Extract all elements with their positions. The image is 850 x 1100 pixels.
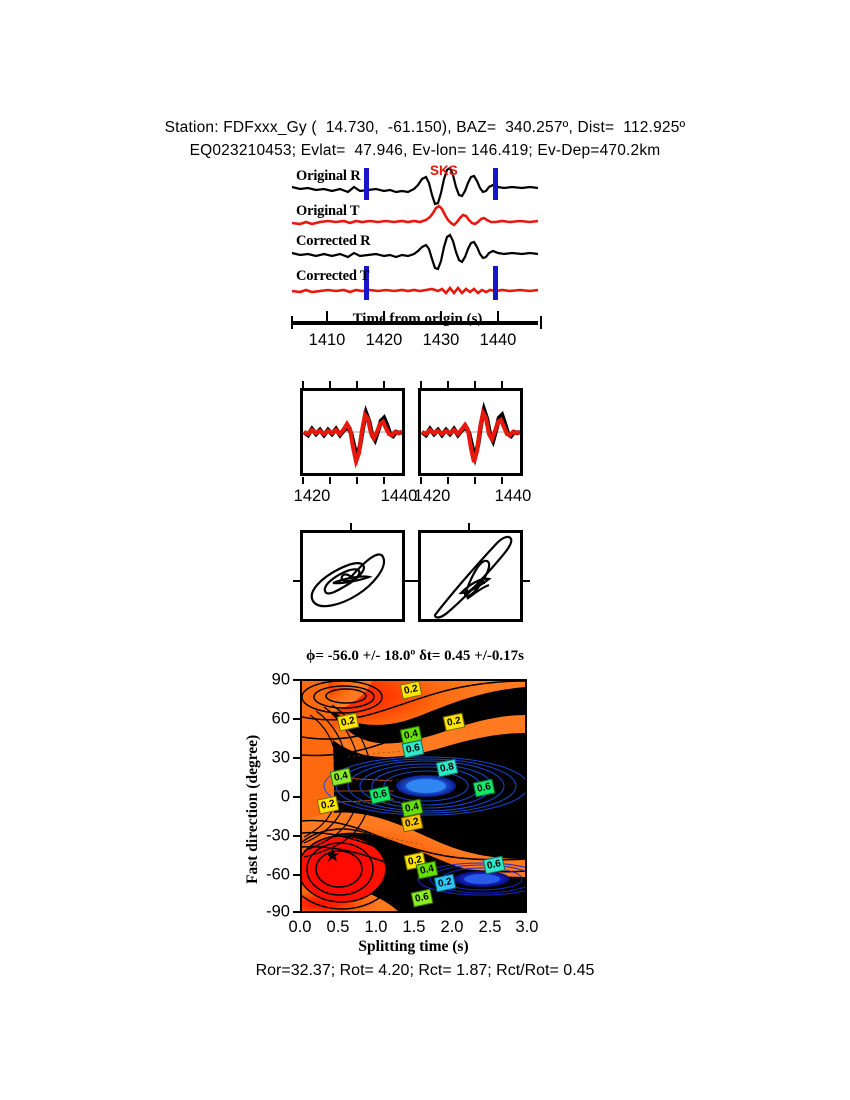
y-tick-label: -90: [244, 903, 290, 922]
y-axis-title: Fast direction (degree): [244, 735, 262, 884]
fast-slow-waveform-box-corrected: [418, 388, 523, 476]
mini-tick: [447, 477, 449, 484]
x-tick-label: 0.5: [327, 918, 350, 937]
time-tick-label: 1410: [309, 331, 346, 350]
best-solution-star: ★: [324, 847, 341, 866]
mini-tick: [383, 477, 385, 484]
x-tick-label: 2.0: [441, 918, 464, 937]
mini-tick: [302, 381, 304, 388]
mini-tick: [356, 381, 358, 388]
station-info-line: Station: FDFxxx_Gy ( 14.730, -61.150), B…: [0, 116, 850, 139]
contour-plot-title: ϕ= -56.0 +/- 18.0º δt= 0.45 +/-0.17s: [230, 648, 600, 665]
contour-plot[interactable]: 0.2 0.2 0.2 0.4 0.6 0.4 0.8 0.6 0.6 0.2 …: [300, 679, 527, 913]
mini-tick-label: 1440: [381, 487, 418, 506]
footer-statistics: Ror=32.37; Rot= 4.20; Rct= 1.87; Rct/Rot…: [0, 962, 850, 980]
trace-corrected-t: [292, 288, 538, 293]
waveform-panel: Original R Original T Corrected R Correc…: [290, 165, 540, 310]
particle-motion-box-corrected: [418, 530, 523, 622]
trace-label-original-t: Original T: [296, 203, 359, 220]
mini-tick: [474, 477, 476, 484]
mini-tick: [468, 523, 470, 530]
window-end-bar-corrected: [493, 266, 498, 300]
mini-tick-label: 1440: [495, 487, 532, 506]
mini-tick: [329, 477, 331, 484]
mini-tick: [420, 381, 422, 388]
figure-header: Station: FDFxxx_Gy ( 14.730, -61.150), B…: [0, 116, 850, 162]
mini-tick: [501, 477, 503, 484]
event-info-line: EQ023210453; Evlat= 47.946, Ev-lon= 146.…: [0, 139, 850, 162]
mini-tick: [356, 477, 358, 484]
particle-motion-box-uncorrected: [300, 530, 405, 622]
y-tick: [293, 796, 300, 798]
y-tick-label: 60: [250, 710, 290, 729]
mini-tick: [523, 580, 530, 582]
trace-label-corrected-r: Corrected R: [296, 233, 370, 250]
mini-tick: [329, 381, 331, 388]
y-tick: [293, 835, 300, 837]
y-tick: [293, 718, 300, 720]
y-tick: [293, 911, 300, 913]
mini-tick: [447, 381, 449, 388]
window-end-bar-original: [493, 168, 498, 200]
x-tick-label: 2.5: [479, 918, 502, 937]
mini-tick-label: 1420: [414, 487, 451, 506]
time-tick-label: 1420: [366, 331, 403, 350]
mini-tick: [293, 580, 300, 582]
time-axis-title: Time from origin (s): [285, 311, 550, 328]
fast-slow-waveform-box-uncorrected: [300, 388, 405, 476]
x-tick-label: 1.0: [365, 918, 388, 937]
particle-motion-curve-uncorrected: [303, 533, 402, 619]
mini-tick-label: 1420: [294, 487, 331, 506]
trace-label-corrected-t: Corrected T: [296, 268, 369, 285]
mini-tick: [411, 580, 418, 582]
particle-motion-curve-corrected: [421, 533, 520, 619]
sks-phase-label: SKS: [430, 163, 458, 178]
y-tick: [293, 679, 300, 681]
y-tick-label: 90: [250, 671, 290, 690]
mini-tick: [474, 381, 476, 388]
mini-tick: [420, 477, 422, 484]
y-tick: [293, 757, 300, 759]
mini-tick: [383, 381, 385, 388]
y-tick: [293, 874, 300, 876]
time-axis: Time from origin (s) 1410 1420 1430 1440: [285, 305, 550, 355]
fast-slow-traces-corrected: [421, 391, 520, 473]
time-tick-label: 1440: [480, 331, 517, 350]
mini-tick: [501, 381, 503, 388]
x-tick-label: 1.5: [403, 918, 426, 937]
mini-tick: [302, 477, 304, 484]
fast-slow-traces-uncorrected: [303, 391, 402, 473]
trace-label-original-r: Original R: [296, 168, 360, 185]
mini-tick: [350, 523, 352, 530]
x-tick-label: 3.0: [516, 918, 539, 937]
x-tick-label: 0.0: [289, 918, 312, 937]
window-start-bar-original: [364, 168, 369, 200]
time-tick-label: 1430: [423, 331, 460, 350]
x-axis-title: Splitting time (s): [300, 938, 527, 956]
